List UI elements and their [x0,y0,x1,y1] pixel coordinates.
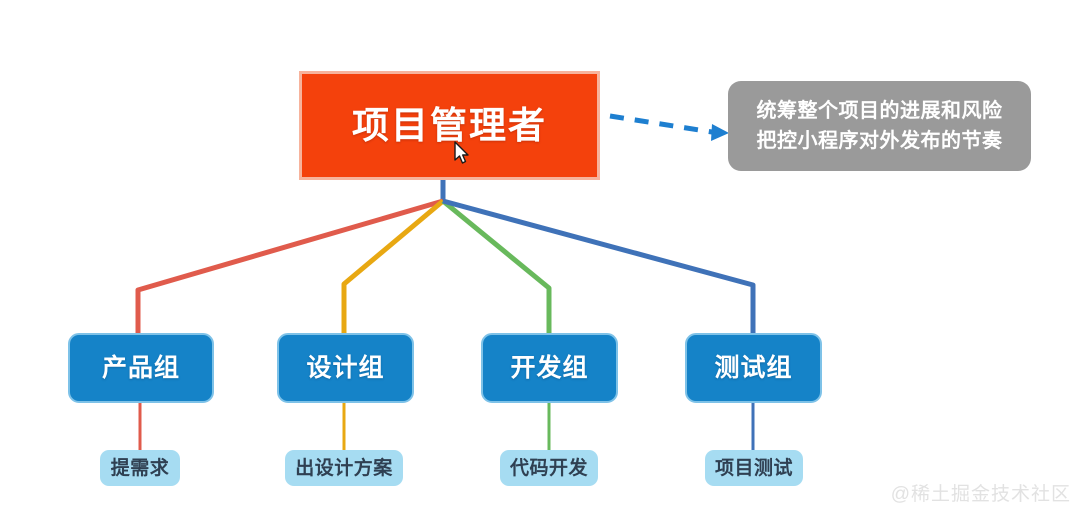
leaf-node-label: 出设计方案 [295,459,393,478]
branch-line-product [138,201,443,333]
group-node-label: 开发组 [510,356,588,381]
branch-line-design [344,201,443,333]
leaf-node-label: 提需求 [111,459,170,478]
leaf-node-label: 项目测试 [715,459,793,478]
group-node-label: 测试组 [714,356,792,381]
leaf-node-project-testing[interactable]: 项目测试 [705,450,803,486]
leaf-node-label: 代码开发 [510,459,588,478]
callout-box[interactable]: 统筹整个项目的进展和风险 把控小程序对外发布的节奏 [728,81,1031,171]
group-node-development[interactable]: 开发组 [481,333,618,403]
group-node-testing[interactable]: 测试组 [685,333,822,403]
leaf-node-design-plan[interactable]: 出设计方案 [285,450,403,486]
branch-line-test [443,201,753,333]
root-node-label: 项目管理者 [352,107,547,144]
dashed-arrow-icon [610,116,729,141]
branch-line-dev [443,201,549,333]
mouse-cursor-icon [454,141,472,167]
leaf-node-requirements[interactable]: 提需求 [100,450,180,486]
diagram-canvas: 项目管理者 统筹整个项目的进展和风险 把控小程序对外发布的节奏 产品组 设计组 … [0,0,1085,514]
leaf-node-code-development[interactable]: 代码开发 [500,450,598,486]
callout-line-2: 把控小程序对外发布的节奏 [757,126,1003,156]
root-node-project-manager[interactable]: 项目管理者 [299,71,600,180]
callout-line-1: 统筹整个项目的进展和风险 [757,96,1003,126]
group-node-label: 产品组 [102,356,180,381]
group-node-product[interactable]: 产品组 [68,333,214,403]
watermark: @稀土掘金技术社区 [891,479,1071,506]
group-node-design[interactable]: 设计组 [277,333,414,403]
group-node-label: 设计组 [306,356,384,381]
